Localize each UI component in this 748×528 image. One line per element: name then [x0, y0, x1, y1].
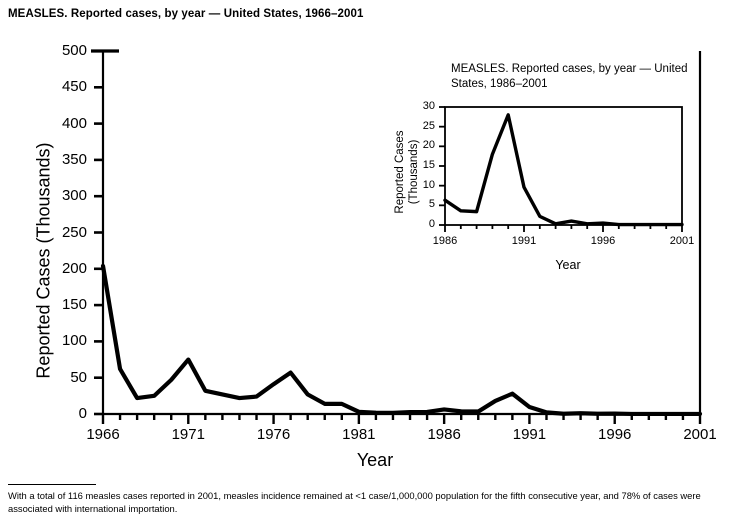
- inset-y-tick-label: 25: [413, 121, 435, 132]
- footnote-text: With a total of 116 measles cases report…: [8, 490, 740, 515]
- inset-x-axis-title: Year: [448, 258, 688, 272]
- main-x-tick-label: 1971: [158, 427, 218, 442]
- inset-x-tick-label: 1996: [583, 236, 623, 247]
- main-x-tick-label: 1986: [414, 427, 474, 442]
- main-x-tick-label: 1976: [244, 427, 304, 442]
- main-x-tick-label: 2001: [670, 427, 730, 442]
- inset-data-line: [445, 115, 682, 225]
- main-x-tick-label: 1996: [585, 427, 645, 442]
- inset-y-axis-title: Reported Cases (Thousands): [393, 117, 421, 227]
- inset-y-tick-label: 10: [413, 180, 435, 191]
- inset-y-tick-label: 30: [413, 101, 435, 112]
- main-y-tick-label: 250: [43, 225, 87, 240]
- main-y-tick-label: 300: [43, 188, 87, 203]
- inset-x-tick-label: 1991: [504, 236, 544, 247]
- inset-y-tick-label: 5: [413, 199, 435, 210]
- main-y-tick-label: 0: [43, 406, 87, 421]
- main-y-tick-label: 150: [43, 297, 87, 312]
- main-y-tick-label: 400: [43, 116, 87, 131]
- main-y-tick-label: 350: [43, 152, 87, 167]
- inset-y-tick-label: 15: [413, 160, 435, 171]
- inset-plot-area: [388, 62, 694, 280]
- main-y-tick-label: 450: [43, 79, 87, 94]
- page-title: MEASLES. Reported cases, by year — Unite…: [8, 8, 364, 20]
- inset-y-tick-label: 20: [413, 140, 435, 151]
- main-y-tick-label: 100: [43, 333, 87, 348]
- main-y-tick-label: 200: [43, 261, 87, 276]
- main-x-tick-label: 1981: [329, 427, 389, 442]
- main-y-tick-label: 50: [43, 370, 87, 385]
- footnote: With a total of 116 measles cases report…: [8, 484, 740, 515]
- inset-x-tick-label: 2001: [662, 236, 702, 247]
- main-x-tick-label: 1991: [499, 427, 559, 442]
- main-x-axis-title: Year: [275, 450, 475, 471]
- main-y-tick-label: 500: [43, 43, 87, 58]
- inset-y-tick-label: 0: [413, 219, 435, 230]
- main-x-tick-label: 1966: [73, 427, 133, 442]
- inset-x-tick-label: 1986: [425, 236, 465, 247]
- inset-plot-border: [445, 107, 682, 225]
- footnote-rule: [8, 484, 96, 485]
- inset-chart: MEASLES. Reported cases, by year — Unite…: [388, 62, 694, 280]
- main-data-line: [103, 266, 700, 414]
